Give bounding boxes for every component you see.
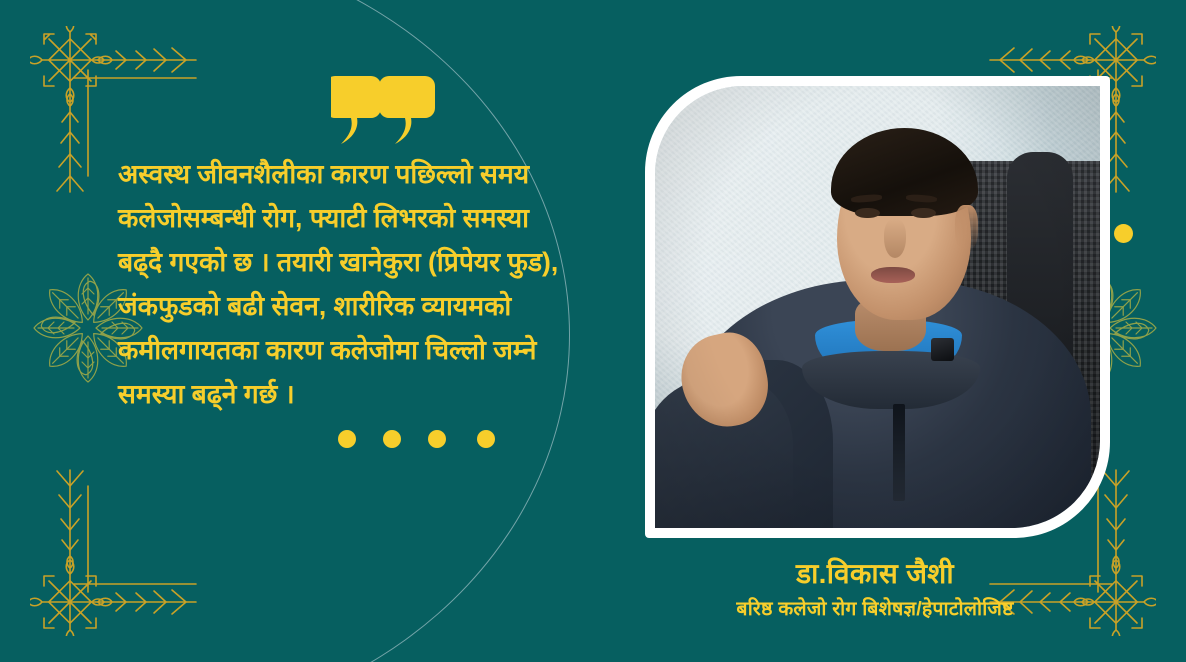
ornament-bottom-left-icon	[30, 466, 200, 636]
quote-line: कलेजोसम्बन्धी रोग, फ्याटी लिभरको समस्या	[118, 196, 630, 240]
portrait-frame	[645, 76, 1110, 538]
dot	[477, 430, 495, 448]
quote-line: जंकफुडको बढी सेवन, शारीरिक व्यायमको	[118, 284, 630, 328]
quote-text: अस्वस्थ जीवनशैलीका कारण पछिल्लो समय कलेज…	[118, 152, 630, 416]
quote-line: कमीलगायतका कारण कलेजोमा चिल्लो जम्ने	[118, 328, 630, 372]
quote-dot-row	[338, 428, 508, 450]
speaker-role: बरिष्ठ कलेजो रोग बिशेषज्ञ/हेपाटोलोजिष्ट	[640, 593, 1110, 625]
quote-poster: अस्वस्थ जीवनशैलीका कारण पछिल्लो समय कलेज…	[0, 0, 1186, 662]
quote-line: समस्या बढ्ने गर्छ ।	[118, 372, 630, 416]
quote-line: अस्वस्थ जीवनशैलीका कारण पछिल्लो समय	[118, 152, 630, 196]
photo-vignette	[655, 86, 1100, 528]
quote-line: बढ्दै गएको छ । तयारी खानेकुरा (प्रिपेयर …	[118, 240, 630, 284]
portrait-photo	[655, 86, 1100, 528]
speaker-name: डा.विकास जैशी	[640, 555, 1110, 593]
dot	[428, 430, 446, 448]
accent-dot-right	[1114, 224, 1133, 243]
dot	[383, 430, 401, 448]
byline: डा.विकास जैशी बरिष्ठ कलेजो रोग बिशेषज्ञ/…	[640, 555, 1110, 625]
dot	[338, 430, 356, 448]
open-quote-icon	[331, 76, 435, 144]
